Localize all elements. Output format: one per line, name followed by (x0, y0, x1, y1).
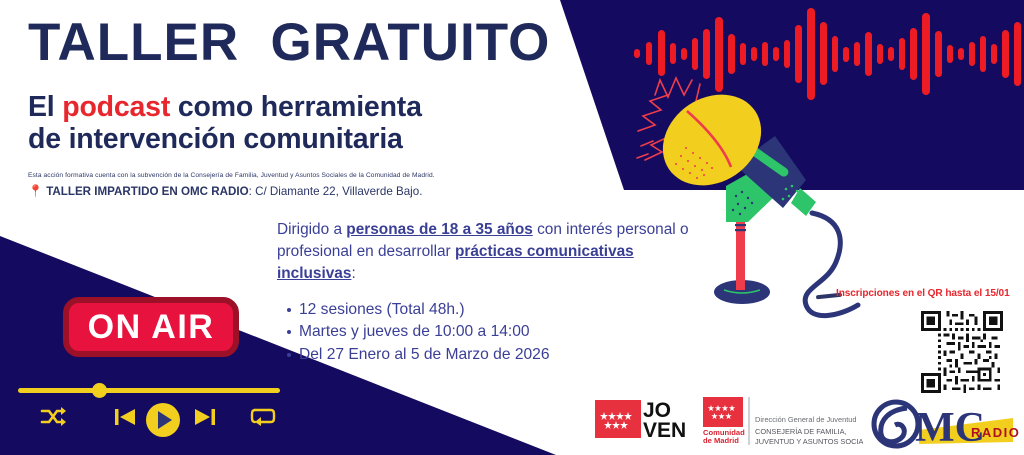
omc-spiral-icon (874, 402, 918, 446)
cm-dept1: Dirección General de Juventud (755, 415, 856, 424)
cm-dept2: CONSEJERÍA DE FAMILIA, (755, 427, 847, 436)
logo-comunidad-madrid: Comunidad de Madrid Dirección General de… (703, 396, 863, 451)
mic-head-seam (687, 111, 731, 167)
signup-note: Inscripciones en el QR hasta el 15/01 (836, 288, 1024, 299)
mic-head (645, 76, 778, 204)
audio-player[interactable] (14, 380, 282, 438)
subtitle-lead: El (28, 91, 62, 123)
venue-bold: TALLER IMPARTIDO EN OMC RADIO (46, 185, 248, 198)
previous-track-icon[interactable] (114, 406, 136, 428)
omc-radio-tag: RADIO (971, 425, 1019, 440)
comunidad-madrid-logo-svg: Comunidad de Madrid Dirección General de… (703, 396, 863, 446)
logo-strip: JO VEN Comunidad de Madrid (595, 396, 1024, 452)
shuffle-icon[interactable] (40, 406, 66, 428)
logo-joven: JO VEN (595, 396, 691, 447)
madrid-seven-stars-icon (703, 397, 743, 427)
body-text-c: : (351, 265, 355, 282)
cm-dept3: JUVENTUD Y ASUNTOS SOCIALES (755, 437, 863, 446)
play-icon[interactable] (145, 402, 181, 438)
mic-connector (791, 188, 816, 216)
mic-cable (805, 213, 858, 316)
headline-block: TALLER GRATUITO El podcast como herramie… (28, 16, 568, 155)
sound-burst-icon (637, 78, 700, 160)
repeat-icon[interactable] (250, 406, 276, 426)
joven-logo-svg: JO VEN (595, 396, 691, 442)
on-air-label: ON AIR (88, 310, 215, 344)
location-pin-icon: 📍 (28, 184, 43, 198)
subtitle-highlight: podcast (62, 91, 170, 123)
mic-pole (736, 222, 745, 290)
poster-canvas: TALLER GRATUITO El podcast como herramie… (0, 0, 1024, 455)
list-item: Martes y jueves de 10:00 a 14:00 (299, 321, 697, 344)
list-item: 12 sesiones (Total 48h.) (299, 299, 697, 322)
mic-body-slot (747, 145, 790, 179)
subtitle-line2: de intervención comunitaria (28, 123, 403, 155)
navy-wedge-top-right (560, 0, 1024, 188)
seek-handle[interactable] (92, 383, 107, 398)
session-details-list: 12 sesiones (Total 48h.) Martes y jueves… (277, 299, 697, 367)
subtitle-rest: como herramienta (170, 91, 422, 123)
omc-radio-logo-svg: MC RADIO (867, 398, 1019, 450)
joven-bottom-text: VEN (643, 419, 686, 442)
cm-line2: de Madrid (703, 436, 739, 445)
page-title: TALLER GRATUITO (28, 16, 568, 69)
logo-omc-radio: MC RADIO (867, 398, 1019, 455)
qr-code-icon[interactable] (921, 311, 1003, 393)
body-copy: Dirigido a personas de 18 a 35 años con … (277, 219, 697, 367)
grant-fineprint: Esta acción formativa cuenta con la subv… (28, 172, 558, 180)
seek-bar[interactable] (18, 388, 280, 393)
page-subtitle: El podcast como herramientade intervenci… (28, 91, 568, 155)
navy-wedge-top-right-body (560, 0, 1024, 190)
venue-address: : C/ Diamante 22, Villaverde Bajo. (249, 185, 423, 198)
body-underline-1: personas de 18 a 35 años (346, 221, 533, 238)
navy-diagonal-top-fill (561, 0, 1024, 190)
on-air-badge: ON AIR (63, 297, 239, 357)
venue-line: 📍 TALLER IMPARTIDO EN OMC RADIO: C/ Diam… (28, 184, 588, 200)
next-track-icon[interactable] (194, 406, 216, 428)
mic-body (735, 136, 806, 208)
mic-yoke (726, 168, 775, 222)
mic-base (714, 280, 770, 304)
body-text-a: Dirigido a (277, 221, 346, 238)
list-item: Del 27 Enero al 5 de Marzo de 2026 (299, 344, 697, 367)
player-controls[interactable] (14, 406, 282, 438)
navy-diagonal-top (561, 0, 1024, 190)
